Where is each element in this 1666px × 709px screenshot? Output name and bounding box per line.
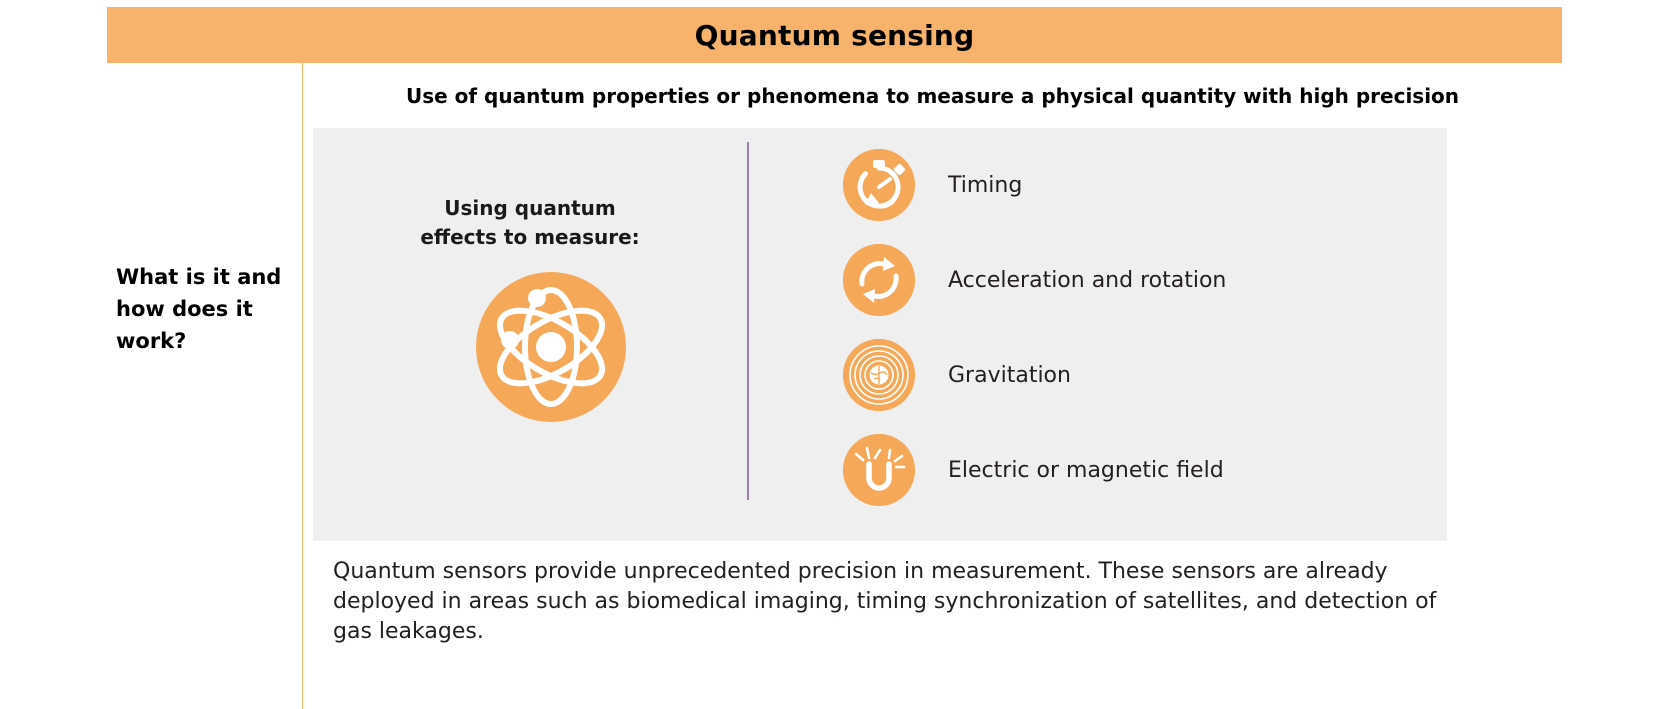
panel-caption: Using quantum effects to measure: (313, 194, 747, 252)
panel-left-side: Using quantum effects to measure: (313, 128, 747, 541)
atom-icon (476, 272, 626, 422)
right-column: Use of quantum properties or phenomena t… (303, 63, 1562, 709)
feature-row: Gravitation (843, 339, 1071, 411)
panel-caption-line2: effects to measure: (420, 225, 639, 249)
feature-row: Acceleration and rotation (843, 244, 1226, 316)
quantum-sensing-infographic: Quantum sensing What is it and how does … (0, 0, 1666, 709)
row-label: What is it and how does it work? (116, 261, 301, 357)
left-column: What is it and how does it work? (107, 63, 302, 709)
feature-row: Timing (843, 149, 1022, 221)
feature-row: Electric or magnetic field (843, 434, 1224, 506)
rotation-arrows-icon (843, 244, 915, 316)
gravitation-rings-icon (843, 339, 915, 411)
panel-caption-line1: Using quantum (444, 196, 615, 220)
magnet-icon (843, 434, 915, 506)
feature-label: Acceleration and rotation (948, 268, 1226, 293)
description-paragraph: Quantum sensors provide unprecedented pr… (333, 557, 1458, 647)
definition-subtitle: Use of quantum properties or phenomena t… (303, 84, 1562, 108)
diagram-panel: Using quantum effects to measure: (313, 128, 1447, 541)
panel-vertical-divider (747, 142, 749, 500)
feature-label: Electric or magnetic field (948, 458, 1224, 483)
header-banner: Quantum sensing (107, 7, 1562, 63)
panel-right-side: Timing Acceleration and rotation (783, 128, 1447, 541)
feature-label: Timing (948, 173, 1022, 198)
page-title: Quantum sensing (695, 19, 975, 52)
feature-label: Gravitation (948, 363, 1071, 388)
stopwatch-icon (843, 149, 915, 221)
